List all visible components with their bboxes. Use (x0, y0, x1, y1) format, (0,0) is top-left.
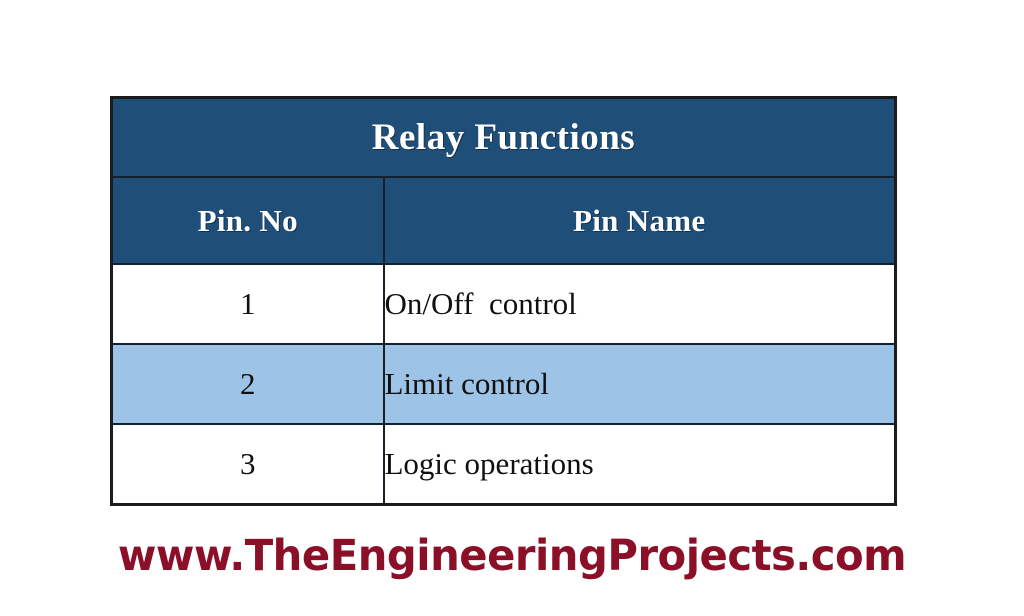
table-header-row: Pin. No Pin Name (112, 177, 896, 264)
cell-pin-no: 2 (112, 344, 384, 424)
table-title: Relay Functions (112, 98, 896, 178)
cell-pin-name: On/Off control (384, 264, 896, 344)
relay-functions-table-container: Relay Functions Pin. No Pin Name 1 On/Of… (110, 96, 897, 497)
relay-functions-table: Relay Functions Pin. No Pin Name 1 On/Of… (110, 96, 897, 506)
column-header-pin-name: Pin Name (384, 177, 896, 264)
table-title-row: Relay Functions (112, 98, 896, 178)
cell-pin-no: 3 (112, 424, 384, 504)
table-row: 2 Limit control (112, 344, 896, 424)
cell-pin-name: Limit control (384, 344, 896, 424)
table-row: 3 Logic operations (112, 424, 896, 504)
site-watermark: www.TheEngineeringProjects.com (15, 531, 1008, 581)
page-canvas: Relay Functions Pin. No Pin Name 1 On/Of… (0, 0, 1024, 616)
cell-pin-no: 1 (112, 264, 384, 344)
cell-pin-name: Logic operations (384, 424, 896, 504)
table-row: 1 On/Off control (112, 264, 896, 344)
column-header-pin-no: Pin. No (112, 177, 384, 264)
